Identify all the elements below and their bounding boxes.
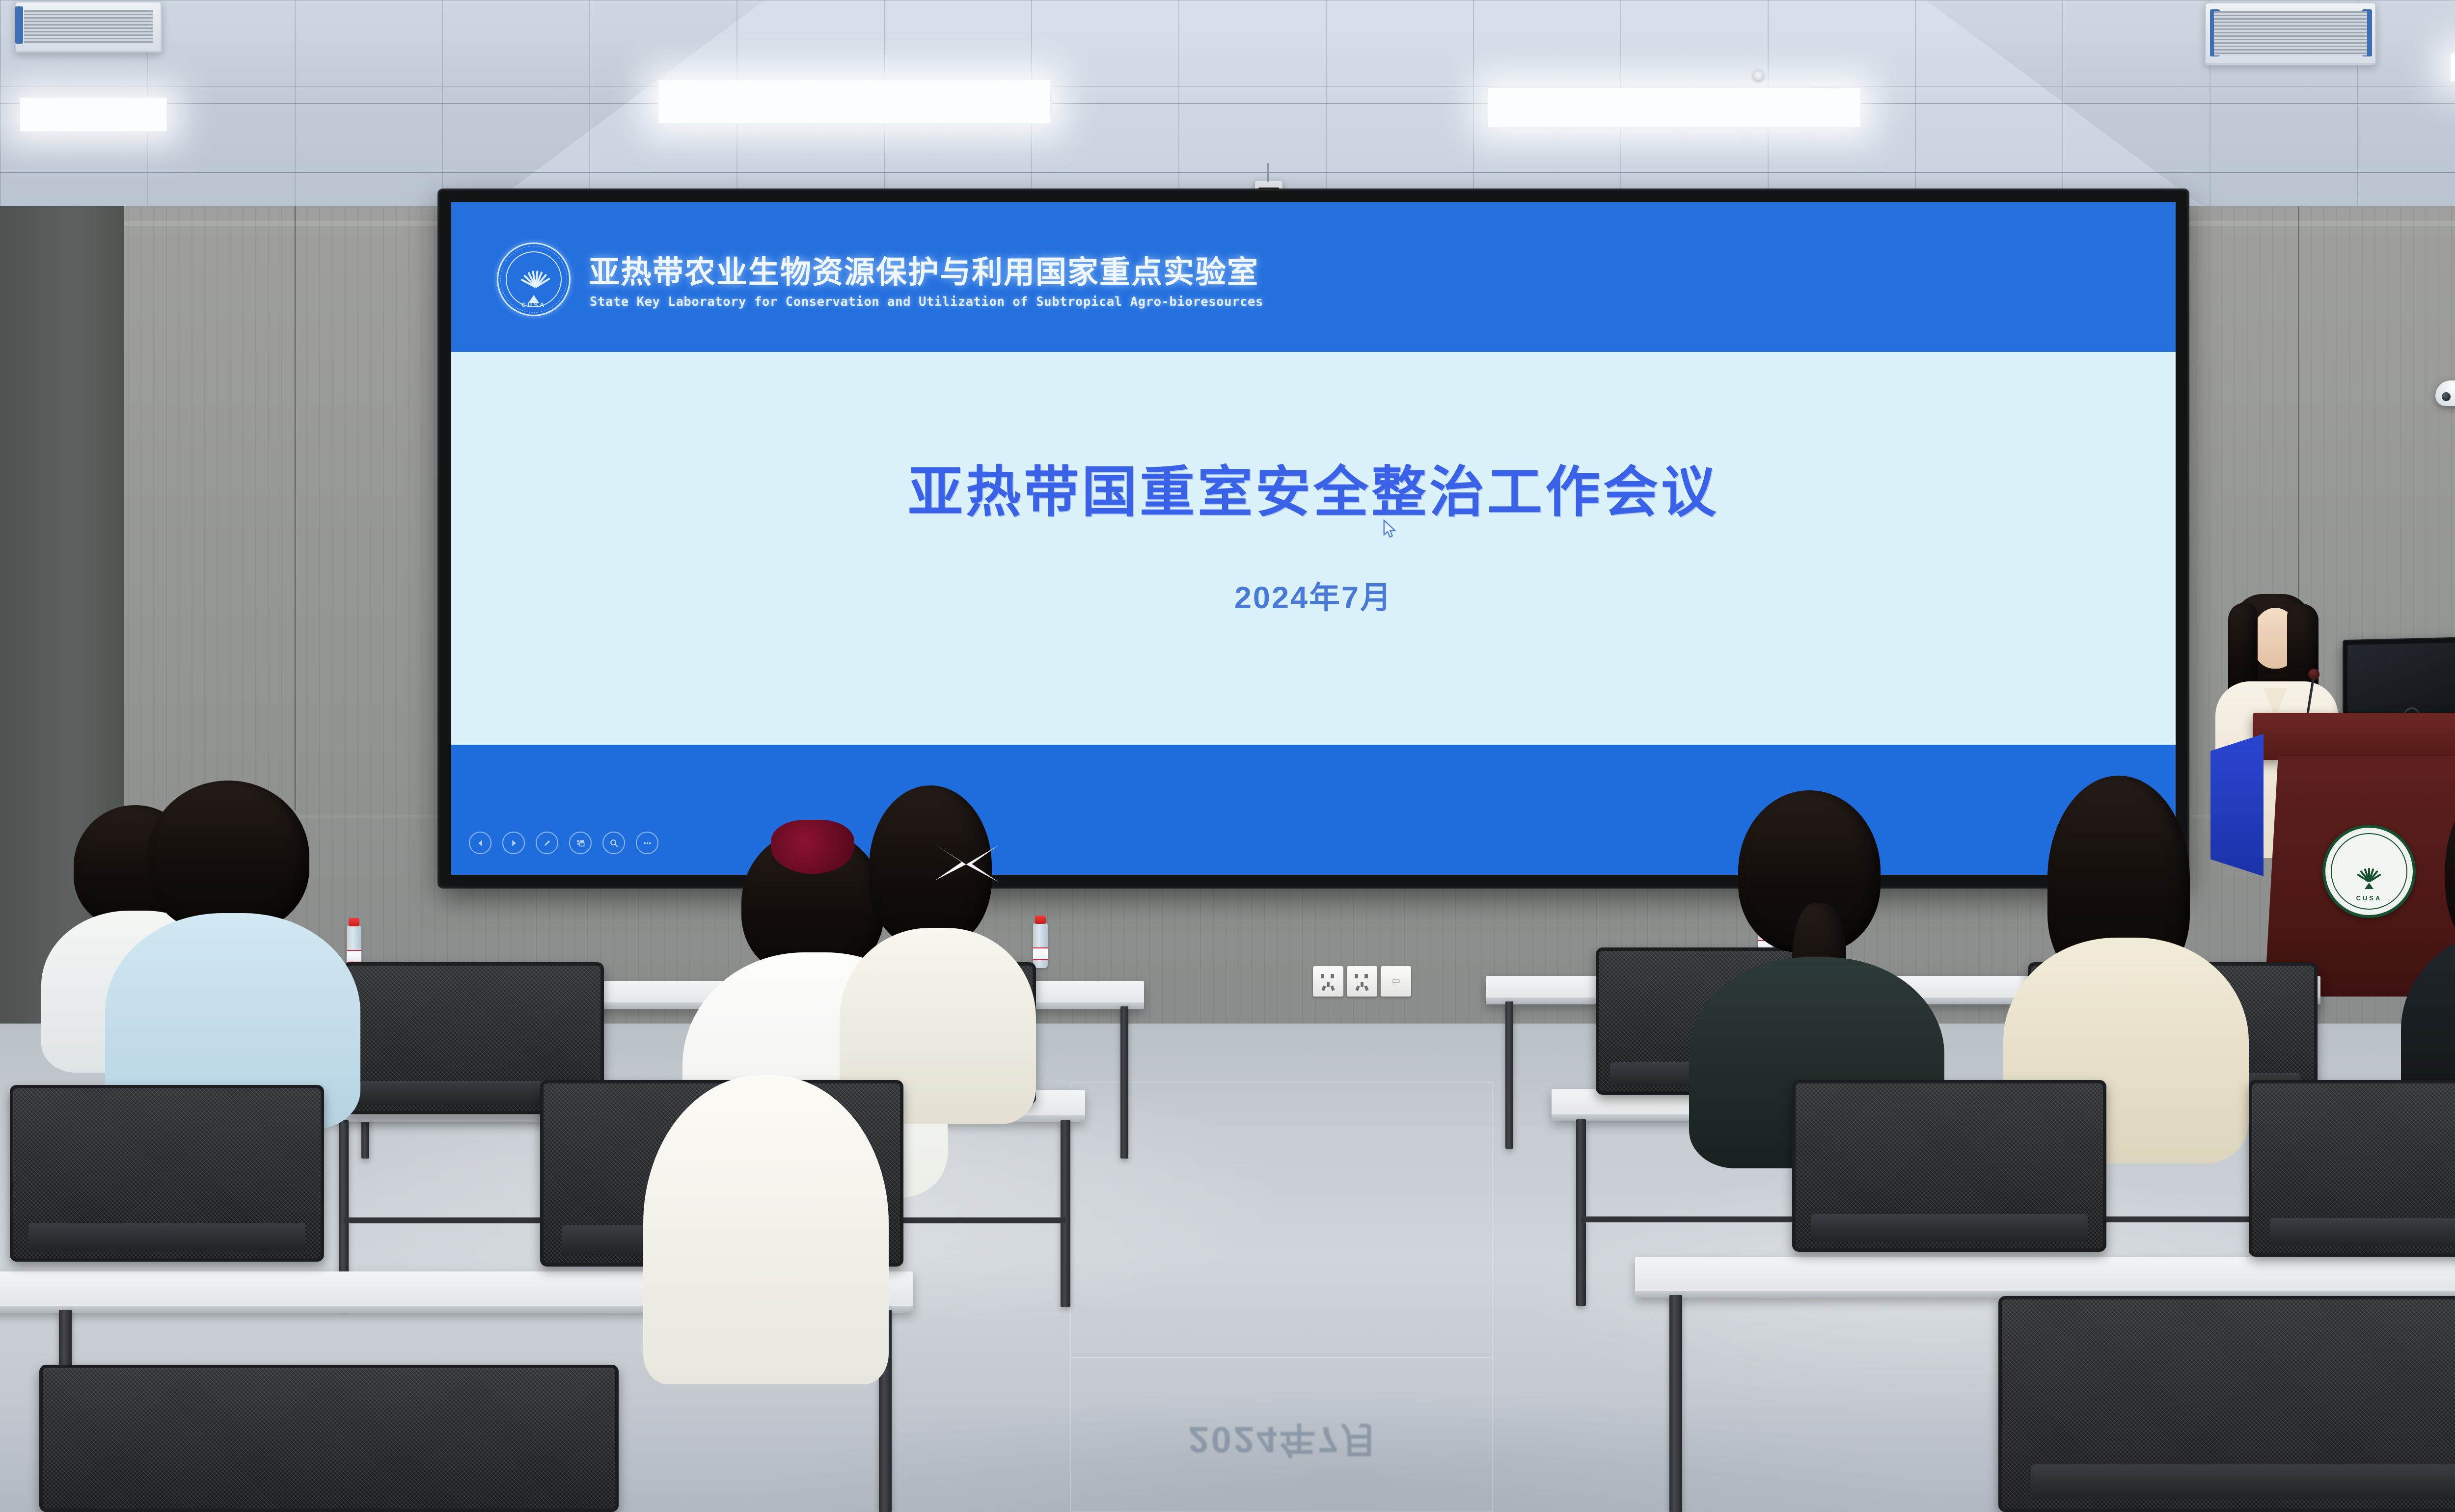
ceiling-led-panel (1488, 87, 1861, 128)
ppt-presentation-toolbar[interactable] (469, 832, 658, 854)
ceiling-led-panel (658, 80, 1051, 124)
ac-vent-unit (15, 1, 162, 53)
floor-reflection-text: 2024年7月 (1112, 1416, 1456, 1469)
podium-emblem-label: CUSA (2325, 894, 2413, 902)
power-socket-icon[interactable] (1347, 966, 1377, 997)
slide-body-band (451, 352, 2176, 745)
pen-annotate-button[interactable] (536, 832, 558, 854)
emblem-cusa-label: CUSA (498, 301, 569, 308)
blank-wall-plate-icon[interactable] (1381, 966, 1411, 997)
office-chair[interactable] (2249, 1080, 2455, 1257)
slide-title: 亚热带国重室安全整治工作会议 (451, 448, 2176, 527)
podium-emblem-icon: CUSA (2322, 825, 2416, 918)
lab-emblem-icon: CUSA (497, 243, 571, 316)
mouse-cursor-icon (1383, 519, 1398, 540)
slide-footer-band (451, 745, 2176, 875)
next-slide-button[interactable] (502, 832, 525, 854)
conference-room-photo: CUSA 亚热带农业生物资源保护与利用国家重点实验室 State Key Lab… (0, 0, 2455, 1512)
office-chair[interactable] (1792, 1080, 2106, 1252)
more-options-button[interactable] (636, 832, 658, 854)
office-chair[interactable] (39, 1365, 619, 1512)
power-socket-icon[interactable] (1313, 966, 1343, 997)
podium-side-accent (2210, 734, 2264, 876)
lab-name-en: State Key Laboratory for Conservation an… (590, 295, 1263, 309)
ceiling-led-panel (2450, 53, 2455, 81)
previous-slide-button[interactable] (469, 832, 491, 854)
hair-accessory-icon (771, 820, 854, 874)
podium-top (2253, 713, 2455, 760)
ceiling-smoke-detector-icon (1753, 70, 1764, 81)
wall-outlet-panel[interactable] (1313, 966, 1411, 997)
projection-screen: CUSA 亚热带农业生物资源保护与利用国家重点实验室 State Key Lab… (439, 190, 2187, 887)
office-chair[interactable] (1998, 1296, 2455, 1512)
all-slides-button[interactable] (569, 832, 592, 854)
powerpoint-slide[interactable]: CUSA 亚热带农业生物资源保护与利用国家重点实验室 State Key Lab… (451, 202, 2176, 875)
ceiling-led-panel (20, 97, 167, 132)
water-bottle[interactable] (1033, 923, 1048, 968)
lab-name-cn: 亚热带农业生物资源保护与利用国家重点实验室 (589, 247, 1259, 292)
ac-vent-unit (2205, 2, 2376, 65)
office-chair[interactable] (10, 1085, 324, 1262)
desk (1635, 1257, 2455, 1298)
slide-date: 2024年7月 (451, 573, 2176, 618)
zoom-slide-button[interactable] (602, 832, 625, 854)
